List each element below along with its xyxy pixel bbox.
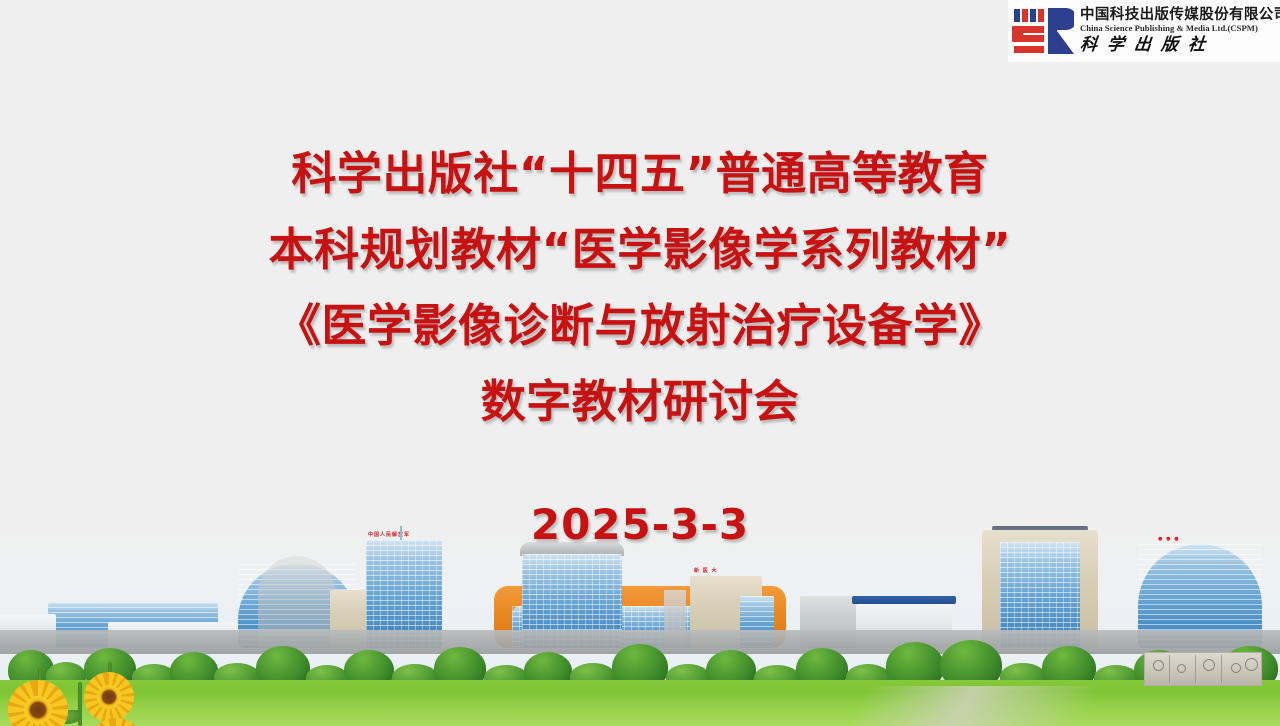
cityscape-background-image: ● ● ● ● ● ● ● 中国人民解放军 新 医 大 附 属 医 院 [0,526,1280,726]
sunflower-cluster [0,606,140,726]
event-date: 2025-3-3 [0,500,1280,549]
publisher-company-en: China Science Publishing & Media Ltd.(CS… [1080,23,1280,33]
lawn-path [852,686,1098,726]
publisher-logo-text: 中国科技出版传媒股份有限公司 China Science Publishing … [1074,3,1280,59]
building-white-civic-roof [852,596,956,604]
title-line-2: 本科规划教材“医学影像学系列教材” [0,212,1280,288]
title-line-3: 《医学影像诊断与放射治疗设备学》 [0,288,1280,364]
publisher-logo: 中国科技出版传媒股份有限公司 China Science Publishing … [1008,0,1280,62]
title-line-4: 数字教材研讨会 [0,364,1280,440]
cspm-logo-mark [1012,6,1074,56]
presentation-slide: ● ● ● ● ● ● ● 中国人民解放军 新 医 大 附 属 医 院 [0,0,1280,726]
publisher-imprint-calligraphy: 科学出版社 [1079,36,1280,56]
publisher-company-cn: 中国科技出版传媒股份有限公司 [1080,7,1280,24]
slide-title-block: 科学出版社“十四五”普通高等教育 本科规划教材“医学影像学系列教材” 《医学影像… [0,136,1280,440]
lawn [0,680,1280,726]
stone-relief-wall [1144,652,1262,686]
roof-sign-cream-building: 新 医 大 [694,567,717,574]
title-line-1: 科学出版社“十四五”普通高等教育 [0,136,1280,212]
